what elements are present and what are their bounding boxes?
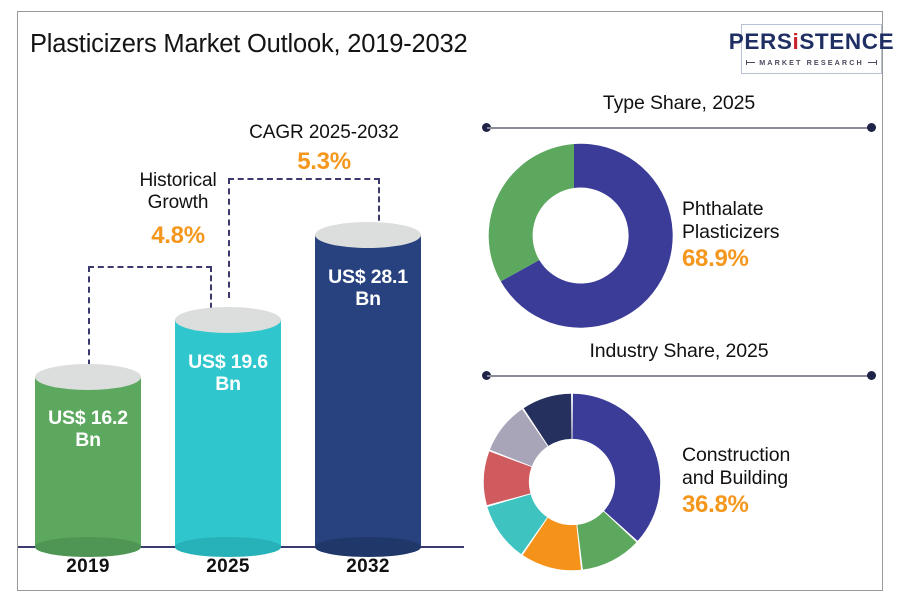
bar-2032-base: [315, 537, 421, 557]
bar-2019-top-ellipse: [35, 364, 141, 390]
type-share-heading: Type Share, 2025: [474, 92, 884, 115]
type-share-row: Phthalate Plasticizers 68.9%: [474, 136, 884, 336]
industry-share-legend-line2: and Building: [682, 467, 884, 490]
bar-2019-base: [35, 537, 141, 557]
industry-share-legend-line1: Construction: [682, 444, 884, 467]
type-share-legend-value: 68.9%: [682, 245, 884, 274]
brand-logo-subtitle-row: MARKET RESEARCH: [746, 58, 877, 67]
bar-2032-top-ellipse: [315, 222, 421, 248]
bar-2025-base: [175, 537, 281, 557]
brand-logo-wordmark: PERSiSTENCE: [729, 31, 894, 54]
industry-donut-segments: [484, 394, 660, 570]
divider-line: [487, 375, 871, 377]
donut-segment-non-phthalate[interactable]: [489, 144, 574, 281]
divider-line: [487, 127, 871, 129]
industry-share-legend-value: 36.8%: [682, 491, 884, 520]
industry-share-heading: Industry Share, 2025: [474, 340, 884, 363]
cagr-label: CAGR 2025-2032: [224, 122, 424, 144]
bar-2025-top-ellipse: [175, 307, 281, 333]
brand-logo-part2: STENCE: [799, 29, 894, 54]
type-share-legend: Phthalate Plasticizers 68.9%: [674, 198, 884, 274]
divider-dot-right-icon: [867, 123, 876, 132]
logo-rule-left-icon: [746, 62, 755, 63]
bar-2032-value: US$ 28.1 Bn: [315, 267, 421, 311]
bar-2019[interactable]: US$ 16.2 Bn: [35, 364, 141, 547]
brand-logo-part1: PERS: [729, 29, 793, 54]
bar-2025-value-line1: US$ 19.6: [188, 351, 268, 373]
brand-logo: PERSiSTENCE MARKET RESEARCH: [741, 24, 882, 74]
type-share-chart: Type Share, 2025 Phthalate Pl: [474, 92, 884, 336]
divider-dot-right-icon: [867, 371, 876, 380]
historical-connector-left: [88, 266, 90, 376]
donut-segment-1[interactable]: [572, 394, 660, 541]
bar-2025-value-line2: Bn: [215, 373, 241, 395]
bar-2019-value-line2: Bn: [75, 429, 101, 451]
bar-2032-value-line2: Bn: [355, 288, 381, 310]
bar-2019-body: [35, 377, 141, 547]
donut-charts: Type Share, 2025 Phthalate Pl: [474, 92, 884, 592]
bar-2025[interactable]: US$ 19.6 Bn: [175, 307, 281, 547]
bar-2025-value: US$ 19.6 Bn: [175, 352, 281, 396]
type-share-divider: [482, 123, 876, 132]
logo-rule-right-icon: [868, 62, 877, 63]
bar-2032[interactable]: US$ 28.1 Bn: [315, 222, 421, 547]
industry-share-chart: Industry Share, 2025 Construction and B: [474, 340, 884, 580]
bar-2019-value: US$ 16.2 Bn: [35, 408, 141, 452]
industry-share-donut-graphic[interactable]: [474, 384, 670, 580]
bar-2019-value-line1: US$ 16.2: [48, 407, 128, 429]
industry-share-donut-svg: [474, 384, 670, 580]
historical-growth-value: 4.8%: [88, 222, 268, 250]
industry-share-divider: [482, 371, 876, 380]
cagr-connector-left: [228, 178, 230, 298]
x-tick-2032: 2032: [315, 556, 421, 578]
bar-chart: CAGR 2025-2032 5.3% Historical Growth 4.…: [18, 100, 470, 590]
x-tick-2019: 2019: [35, 556, 141, 578]
type-share-donut-graphic[interactable]: [474, 136, 674, 336]
x-tick-2025: 2025: [175, 556, 281, 578]
type-share-legend-line1: Phthalate: [682, 198, 884, 221]
historical-growth-label-line2: Growth: [88, 192, 268, 214]
bar-2032-value-line1: US$ 28.1: [328, 266, 408, 288]
type-share-legend-line2: Plasticizers: [682, 221, 884, 244]
industry-share-row: Construction and Building 36.8%: [474, 384, 884, 580]
page-title: Plasticizers Market Outlook, 2019-2032: [30, 30, 467, 59]
cagr-connector-top: [228, 178, 380, 180]
infographic-page: Plasticizers Market Outlook, 2019-2032 P…: [0, 0, 900, 614]
industry-share-legend: Construction and Building 36.8%: [670, 444, 884, 520]
brand-logo-subtitle: MARKET RESEARCH: [759, 58, 864, 67]
type-share-donut-svg: [474, 136, 674, 336]
historical-growth-label-line1: Historical: [88, 170, 268, 192]
